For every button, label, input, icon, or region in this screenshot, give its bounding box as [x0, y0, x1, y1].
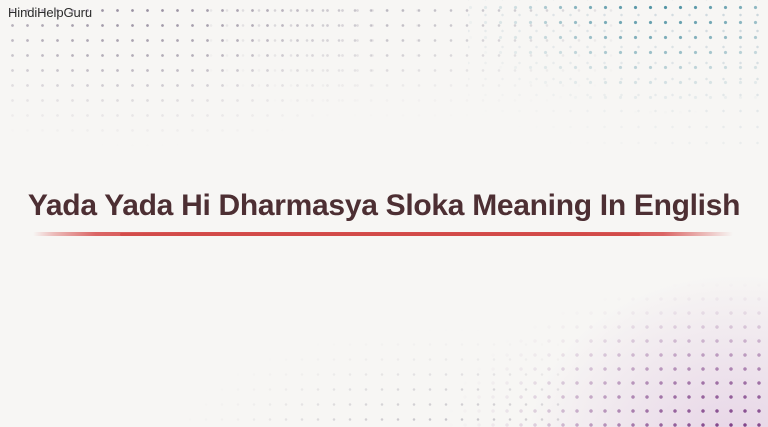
page-title: Yada Yada Hi Dharmasya Sloka Meaning In … — [0, 186, 768, 226]
title-underline-core — [120, 233, 640, 236]
site-watermark: HindiHelpGuru — [8, 5, 92, 21]
title-underline-wrap — [0, 229, 768, 239]
featured-image-canvas: HindiHelpGuru Yada Yada Hi Dharmasya Slo… — [0, 0, 768, 427]
halftone-dots-bottom-middle — [150, 307, 570, 427]
halftone-dots-bottom-right — [386, 260, 768, 427]
heading-block: Yada Yada Hi Dharmasya Sloka Meaning In … — [0, 186, 768, 239]
halftone-dots-top-right-soft — [468, 0, 768, 150]
corner-glow-bottom-right — [528, 277, 768, 427]
halftone-dots-top-left — [0, 0, 430, 188]
halftone-dots-top-right — [458, 0, 768, 159]
halftone-dots-top-middle — [200, 0, 620, 176]
